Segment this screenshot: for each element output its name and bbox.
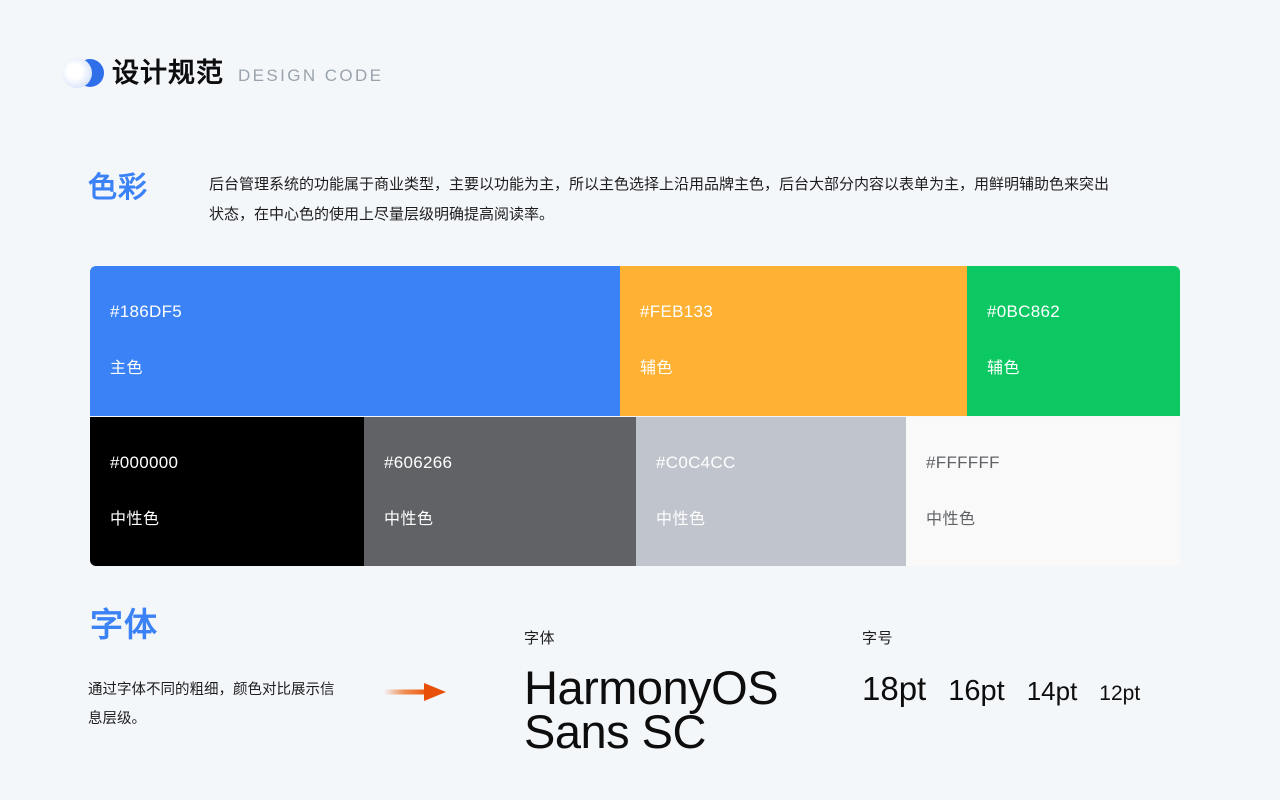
font-family-specimen: HarmonyOS Sans SC — [524, 666, 778, 754]
color-swatch: #606266中性色 — [364, 417, 636, 566]
color-swatch: #C0C4CC中性色 — [636, 417, 906, 566]
swatch-row-neutral: #000000中性色#606266中性色#C0C4CC中性色#FFFFFF中性色 — [90, 417, 1180, 566]
arrow-right-icon — [384, 681, 446, 703]
color-swatch: #FEB133辅色 — [620, 266, 967, 416]
color-swatch-label: 辅色 — [987, 361, 1020, 377]
color-swatch-hex: #FFFFFF — [926, 454, 1000, 471]
typography-section-heading: 字体 — [90, 608, 158, 641]
color-swatch-label: 辅色 — [640, 361, 673, 377]
font-size-sample: 16pt — [948, 677, 1004, 706]
color-swatch-grid: #186DF5主色#FEB133辅色#0BC862辅色 #000000中性色#6… — [90, 266, 1180, 566]
page-header: 设计规范 DESIGN CODE — [62, 52, 383, 94]
swatch-row-primary: #186DF5主色#FEB133辅色#0BC862辅色 — [90, 266, 1180, 416]
font-size-sample: 12pt — [1099, 683, 1140, 704]
color-swatch-hex: #FEB133 — [640, 303, 713, 320]
logo-glow-circle-icon — [62, 58, 92, 88]
color-swatch-hex: #606266 — [384, 454, 452, 471]
color-swatch-hex: #000000 — [110, 454, 178, 471]
font-size-label: 字号 — [862, 631, 1140, 646]
color-swatch-label: 中性色 — [384, 512, 434, 528]
color-swatch-label: 中性色 — [656, 512, 706, 528]
color-swatch-label: 中性色 — [926, 512, 976, 528]
color-swatch-label: 主色 — [110, 361, 143, 377]
typography-section-description: 通过字体不同的粗细，颜色对比展示信息层级。 — [88, 676, 338, 734]
color-section-heading: 色彩 — [88, 174, 148, 203]
font-size-sample: 18pt — [862, 672, 926, 705]
font-family-block: 字体 HarmonyOS Sans SC — [524, 631, 778, 754]
font-family-label: 字体 — [524, 631, 778, 646]
color-section-description: 后台管理系统的功能属于商业类型，主要以功能为主，所以主色选择上沿用品牌主色，后台… — [209, 170, 1119, 230]
color-swatch-hex: #186DF5 — [110, 303, 182, 320]
page-subtitle: DESIGN CODE — [238, 63, 383, 84]
color-swatch-hex: #0BC862 — [987, 303, 1060, 320]
dual-circle-logo-icon — [62, 56, 106, 90]
color-swatch-hex: #C0C4CC — [656, 454, 736, 471]
color-swatch: #000000中性色 — [90, 417, 364, 566]
color-swatch: #FFFFFF中性色 — [906, 417, 1180, 566]
color-swatch: #0BC862辅色 — [967, 266, 1180, 416]
page-title: 设计规范 — [112, 60, 224, 87]
color-swatch: #186DF5主色 — [90, 266, 620, 416]
font-size-block: 字号 18pt16pt14pt12pt — [862, 631, 1140, 706]
font-size-sample: 14pt — [1027, 678, 1078, 704]
font-size-sample-list: 18pt16pt14pt12pt — [862, 672, 1140, 706]
color-swatch-label: 中性色 — [110, 512, 160, 528]
